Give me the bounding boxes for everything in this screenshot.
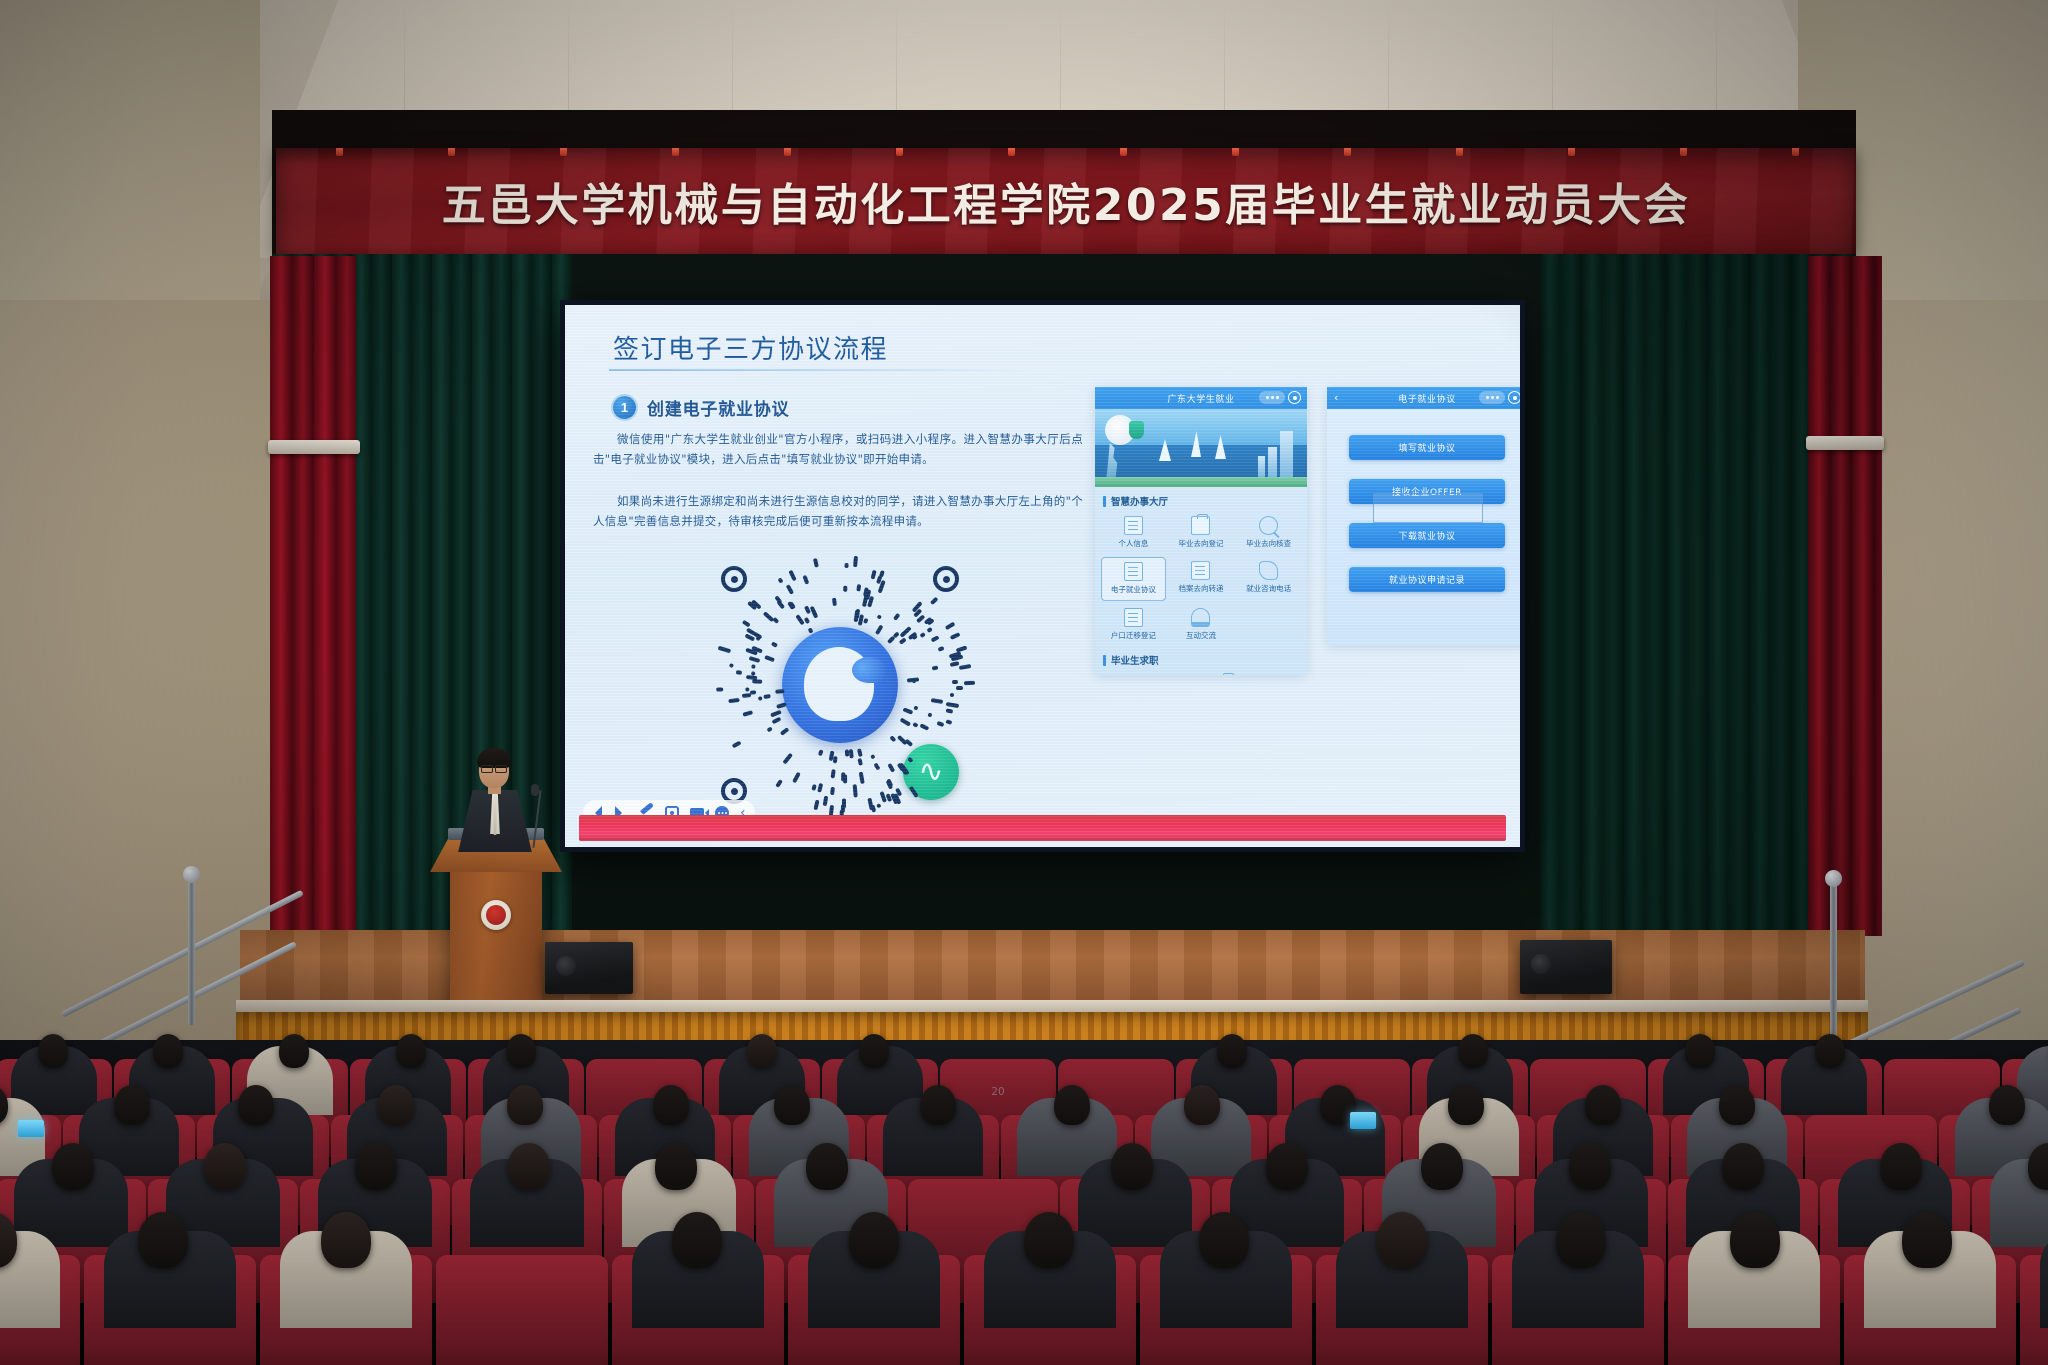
qr-module (831, 787, 835, 795)
agreement-button[interactable]: 填写就业协议 (1349, 435, 1505, 460)
jobs-grid: 招聘找企业找岗位个人中心 (1095, 671, 1307, 675)
qr-module (930, 635, 938, 642)
magnifier-icon (1259, 516, 1278, 535)
hall-item[interactable]: 互动交流 (1169, 604, 1234, 646)
audience-member-head (1815, 1034, 1845, 1068)
qr-module (764, 655, 775, 662)
podium (450, 855, 542, 1015)
qr-module (729, 664, 734, 668)
qr-module (841, 804, 845, 812)
qr-module (927, 713, 932, 718)
seat-number: 20 (991, 1086, 1004, 1098)
slide-accent-bar (579, 815, 1506, 841)
audience-member-head (114, 1085, 150, 1125)
audience-member-head (1722, 1143, 1764, 1190)
hall-item-label: 档案去向转递 (1178, 583, 1223, 594)
hall-item-label: 户口迁移登记 (1111, 630, 1156, 641)
hall-item-label: 个人信息 (1118, 538, 1148, 549)
qr-module (749, 656, 760, 663)
audience-seat (440, 1258, 604, 1365)
qr-module (788, 570, 796, 581)
microphone-icon (531, 784, 539, 796)
qr-module (732, 741, 742, 748)
audience-member-head (38, 1034, 68, 1068)
audience-member-head (1024, 1212, 1074, 1268)
job-item[interactable]: 找岗位 (1203, 671, 1251, 675)
chevron-left-icon[interactable]: ‹ (1334, 391, 1338, 404)
banner-clip (448, 148, 455, 156)
qr-module (860, 772, 866, 784)
qr-module (758, 696, 763, 700)
qr-module (763, 695, 770, 699)
qr-module (858, 749, 863, 758)
wechat-miniprogram-qr-icon: ∿ (715, 560, 965, 810)
agreement-button[interactable]: 就业协议申请记录 (1349, 567, 1505, 592)
qr-module (802, 575, 808, 585)
qr-module (717, 646, 730, 653)
qr-module (766, 727, 772, 733)
railing-post-right (1830, 880, 1837, 1060)
audience-member-head (238, 1085, 274, 1125)
audience-member-head (378, 1085, 414, 1125)
archive-icon (1191, 561, 1210, 580)
job-item[interactable]: 招聘 (1101, 671, 1149, 675)
slide-title-rule (609, 369, 1029, 371)
qr-module (956, 645, 968, 652)
hero-tower-2 (1268, 447, 1277, 477)
banner-clip (1792, 148, 1799, 156)
hall-grid: 个人信息毕业去向登记毕业去向核查电子就业协议档案去向转递就业咨询电话户口迁移登记… (1095, 512, 1307, 646)
wall-left (0, 0, 260, 330)
qr-module (775, 780, 783, 789)
qr-module (817, 783, 822, 792)
qr-module (946, 720, 952, 725)
qr-module (844, 563, 848, 568)
audience-member-head (1184, 1085, 1220, 1125)
qr-module (716, 688, 723, 692)
step-title: 创建电子就业协议 (647, 395, 789, 420)
qr-module (742, 694, 751, 698)
verified-shield-icon (1129, 421, 1144, 439)
close-capsule-icon[interactable] (1288, 391, 1301, 404)
banner-clip (1120, 148, 1127, 156)
job-item[interactable]: 找企业 (1152, 671, 1200, 675)
qr-module (833, 756, 837, 763)
qr-module (912, 722, 918, 728)
audience-member-head (1111, 1143, 1153, 1190)
qr-module (850, 749, 854, 758)
qr-module (752, 680, 762, 684)
job-item[interactable]: 个人中心 (1253, 671, 1301, 675)
qr-module (890, 735, 897, 742)
qr-module (824, 796, 829, 806)
qr-module (932, 665, 939, 670)
stage-monitor-left (545, 942, 633, 994)
qr-module (774, 595, 782, 604)
qr-module (776, 703, 786, 709)
slide-surface: 签订电子三方协议流程 1 创建电子就业协议 微信使用"广东大学生就业创业"官方小… (565, 305, 1520, 847)
hero-sailboat-2 (1191, 431, 1201, 457)
agreement-button[interactable]: 下载就业协议 (1349, 523, 1505, 548)
qr-module (879, 570, 885, 578)
section-marker (1103, 496, 1106, 507)
qr-module (771, 710, 782, 717)
audience-member-head (1880, 1143, 1922, 1190)
audience-member-head (1902, 1212, 1952, 1268)
audience-member-head (1685, 1034, 1715, 1068)
qr-module (920, 723, 929, 730)
qr-eye-top-left (721, 566, 747, 592)
qr-module (814, 800, 820, 810)
qr-module (946, 708, 954, 713)
qr-module (813, 558, 819, 568)
qr-module (875, 625, 883, 635)
audience-member-head (1054, 1085, 1090, 1125)
qr-module (870, 570, 876, 579)
audience-member-head (321, 1212, 371, 1268)
qr-module (736, 671, 742, 675)
qr-module (952, 680, 959, 684)
slide-title: 签订电子三方协议流程 (613, 329, 888, 366)
qr-module (729, 698, 740, 703)
qr-module (843, 586, 847, 592)
audience-member-head (153, 1034, 183, 1068)
qr-module (949, 693, 953, 697)
qr-module (945, 621, 955, 629)
qr-module (853, 784, 858, 797)
qr-module (893, 632, 900, 639)
banner-clip (1344, 148, 1351, 156)
banner-clip (1232, 148, 1239, 156)
audience-member-head (279, 1034, 309, 1068)
qr-module (795, 614, 804, 625)
curtain-red-right (1808, 256, 1882, 936)
phone-icon (1259, 561, 1278, 580)
miniprogram-home-title: 广东大学生就业 (1167, 392, 1234, 405)
qr-module (858, 758, 863, 765)
more-capsule-icon[interactable] (1479, 391, 1505, 404)
audience-member-head (204, 1143, 246, 1190)
audience-member-head (1458, 1034, 1488, 1068)
qr-module (958, 664, 970, 669)
hero-tower-1 (1280, 431, 1293, 477)
audience-member-head (1377, 1212, 1427, 1268)
qr-module (902, 707, 913, 714)
hall-item[interactable]: 毕业去向登记 (1169, 512, 1234, 554)
hall-item[interactable]: 户口迁移登记 (1101, 604, 1166, 646)
banner-clip (1568, 148, 1575, 156)
agreement-capsule[interactable] (1479, 391, 1520, 404)
audience-member-head (138, 1212, 188, 1268)
section-hall-label: 智慧办事大厅 (1111, 494, 1168, 508)
qr-module (880, 791, 887, 802)
audience-member-head (655, 1143, 697, 1190)
railing-ball-right (1825, 870, 1842, 887)
qr-module (831, 769, 836, 778)
qr-module (937, 646, 943, 651)
qr-module (841, 772, 845, 781)
qr-module (772, 717, 782, 724)
audience-member-head (506, 1034, 536, 1068)
qr-module (887, 763, 895, 773)
highlight-box (1373, 493, 1483, 523)
audience-member-head (653, 1085, 689, 1125)
qr-module (780, 728, 789, 736)
qr-module (950, 661, 960, 666)
audience-member-head (859, 1034, 889, 1068)
hall-item[interactable]: 毕业去向核查 (1236, 512, 1301, 554)
audience-member-head (747, 1034, 777, 1068)
audience-member-head (507, 1085, 543, 1125)
hall-item-label: 毕业去向登记 (1178, 538, 1223, 549)
qr-module (871, 804, 876, 812)
qr-module (782, 753, 792, 764)
curtain-tieback-left (268, 440, 360, 454)
hall-item-label: 互动交流 (1186, 630, 1216, 641)
section-jobs-heading: 毕业生求职 (1103, 653, 1307, 667)
qr-module (876, 614, 881, 619)
audience-member-head (1585, 1085, 1621, 1125)
qr-module (931, 698, 943, 703)
hall-item[interactable]: 个人信息 (1101, 512, 1166, 554)
qr-module (920, 632, 926, 638)
hero-greenline (1095, 477, 1307, 487)
audience-member-head (355, 1143, 397, 1190)
step-number-badge: 1 (613, 396, 636, 419)
qr-module (964, 681, 975, 685)
qr-module (893, 613, 900, 621)
audience-area: 171718182017 (0, 1040, 2048, 1365)
auditorium-scene: 五邑大学机械与自动化工程学院2025届毕业生就业动员大会 签订电子三方协议流程 … (0, 0, 2048, 1365)
qr-module (832, 598, 836, 607)
audience-member-head (1569, 1143, 1611, 1190)
audience-member-head (1217, 1034, 1247, 1068)
hall-item[interactable]: 就业咨询电话 (1236, 557, 1301, 601)
banner-clip (336, 148, 343, 156)
audience-member-head (1421, 1143, 1463, 1190)
qr-module (956, 686, 963, 690)
proscenium-wall-left (0, 300, 272, 1060)
qr-module (863, 617, 868, 623)
audience-member-head (920, 1085, 956, 1125)
audience-member-head (1448, 1085, 1484, 1125)
qr-module (819, 749, 824, 756)
qr-module (871, 754, 876, 759)
miniprogram-agreement-mock: ‹ 电子就业协议 填写就业协议接收企业OFFER下载就业协议就业协议申请记录 (1327, 387, 1520, 645)
audience-member-head (52, 1143, 94, 1190)
qr-module (778, 577, 783, 583)
qr-module (911, 679, 916, 683)
audience-member-head (1719, 1085, 1755, 1125)
qr-module (930, 596, 938, 604)
hall-item[interactable]: 电子就业协议 (1101, 557, 1166, 601)
banner-clip (560, 148, 567, 156)
banner-clip (672, 148, 679, 156)
banner-clip (1456, 148, 1463, 156)
miniprogram-hero-banner (1095, 409, 1307, 487)
hero-tower-3 (1258, 456, 1265, 477)
audience-member-head (849, 1212, 899, 1268)
audience-member-head (806, 1143, 848, 1190)
qr-brand-logo-icon (782, 627, 898, 743)
miniprogram-capsule[interactable] (1259, 391, 1301, 404)
qr-module (897, 735, 907, 745)
curtain-tieback-right (1806, 436, 1884, 450)
slide-step-heading: 1 创建电子就业协议 (613, 395, 789, 420)
event-banner-text: 五邑大学机械与自动化工程学院2025届毕业生就业动员大会 (442, 169, 1690, 233)
qr-module (913, 705, 918, 709)
qr-module (742, 620, 751, 627)
podium-emblem (481, 900, 511, 930)
miniprogram-home-mock: 广东大学生就业 (1095, 387, 1307, 675)
briefcase-icon (1191, 516, 1210, 535)
stage-monitor-right (1520, 940, 1612, 994)
qr-module (927, 627, 933, 633)
hall-item[interactable]: 档案去向转递 (1169, 557, 1234, 601)
qr-module (793, 772, 801, 784)
qr-module (950, 632, 961, 640)
qr-module (945, 702, 958, 708)
qr-module (786, 585, 794, 595)
agreement-title: 电子就业协议 (1398, 392, 1456, 405)
qr-module (750, 665, 755, 669)
audience-member-head (1730, 1212, 1780, 1268)
headset-icon (1191, 608, 1210, 627)
banner-clip (1680, 148, 1687, 156)
agreement-header: ‹ 电子就业协议 (1327, 387, 1520, 409)
audience-member-head (672, 1212, 722, 1268)
slide-paragraph-1: 微信使用"广东大学生就业创业"官方小程序，或扫码进入小程序。进入智慧办事大厅后点… (593, 429, 1083, 469)
qr-module (762, 611, 774, 622)
miniprogram-home-header: 广东大学生就业 (1095, 387, 1307, 409)
railing-ball-left (183, 866, 200, 883)
hall-item-label: 就业咨询电话 (1246, 583, 1291, 594)
railing-post-left (188, 875, 195, 1025)
glasses-icon (481, 765, 507, 771)
audience-member-head (396, 1034, 426, 1068)
audience-member-head (774, 1085, 810, 1125)
audience-member-head (1989, 1085, 2025, 1125)
qr-eye-top-right (933, 566, 959, 592)
qr-module (804, 617, 810, 624)
qr-module (845, 749, 849, 756)
more-capsule-icon[interactable] (1259, 391, 1285, 404)
qr-module (787, 601, 794, 609)
curtain-red-left (270, 256, 356, 956)
qr-module (775, 689, 785, 693)
qr-module (936, 721, 944, 727)
slide-paragraph-2: 如果尚未进行生源绑定和尚未进行生源信息校对的同学，请进入智慧办事大厅左上角的"个… (593, 491, 1083, 531)
audience-member-head (1266, 1143, 1308, 1190)
audience-phone-screen (1350, 1112, 1376, 1129)
event-banner: 五邑大学机械与自动化工程学院2025届毕业生就业动员大会 (276, 148, 1856, 254)
qr-module (854, 556, 858, 567)
document-icon (1124, 562, 1143, 581)
audience-member-head (508, 1143, 550, 1190)
audience-member-head (1199, 1212, 1249, 1268)
document-icon (1124, 516, 1143, 535)
section-marker (1103, 655, 1106, 666)
banner-clip (896, 148, 903, 156)
hall-item-label: 毕业去向核查 (1246, 538, 1291, 549)
hall-item-label: 电子就业协议 (1111, 584, 1156, 595)
list-icon (1124, 608, 1143, 627)
audience-member-head (1556, 1212, 1606, 1268)
close-capsule-icon[interactable] (1508, 391, 1520, 404)
qr-module (899, 637, 907, 644)
qr-module (856, 584, 860, 591)
qr-module (877, 803, 882, 808)
section-hall-heading: 智慧办事大厅 (1103, 494, 1307, 508)
banner-clip (1008, 148, 1015, 156)
projection-screen: 签订电子三方协议流程 1 创建电子就业协议 微信使用"广东大学生就业创业"官方小… (560, 300, 1525, 852)
banner-clip (784, 148, 791, 156)
qr-module (770, 642, 777, 648)
qr-module (743, 711, 753, 717)
qr-module (886, 778, 893, 787)
qr-module (899, 718, 910, 726)
audience-phone-screen (18, 1120, 44, 1137)
qr-module (812, 784, 817, 791)
qr-module (876, 766, 881, 771)
section-jobs-label: 毕业生求职 (1111, 653, 1159, 667)
